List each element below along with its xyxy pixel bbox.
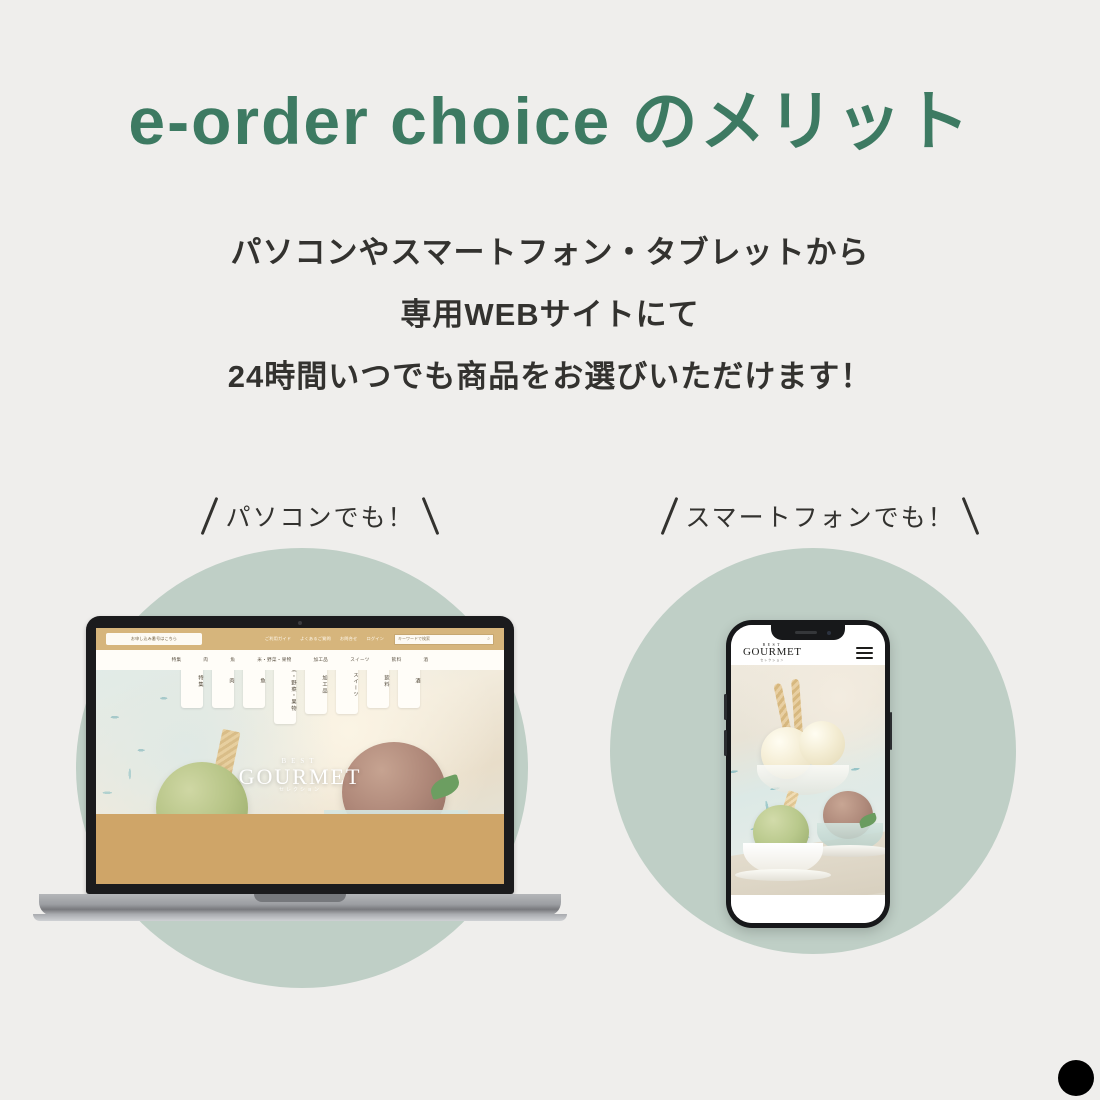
phone-caption: スマートフォンでも！ <box>560 496 1080 536</box>
lead-line-2: 専用WEBサイトにて <box>0 284 1100 346</box>
hamburger-bar <box>856 652 873 654</box>
lead-paragraph: パソコンやスマートフォン・タブレットから 専用WEBサイトにて 24時間いつでも… <box>0 222 1100 408</box>
nav-item-3[interactable]: 米・野菜・果物 <box>257 657 291 663</box>
category-tabs: 特集 肉 魚 米・野菜・果物 加工品 スイーツ 飲料 酒 <box>96 670 504 740</box>
category-tab-2[interactable]: 魚 <box>243 670 265 708</box>
nav-item-6[interactable]: 飲料 <box>392 657 402 663</box>
nav-item-4[interactable]: 加工品 <box>314 657 329 663</box>
laptop-screen: お申し込み番号はこちら ご利用ガイド よくあるご質問 お問合せ ログイン キーワ… <box>96 628 504 884</box>
hamburger-bar <box>856 657 873 659</box>
site-logo: BEST GOURMET セレクション <box>239 758 362 794</box>
top-link-guide[interactable]: ご利用ガイド <box>265 636 291 642</box>
nav-item-2[interactable]: 魚 <box>230 657 235 663</box>
lead-line-1: パソコンやスマートフォン・タブレットから <box>0 222 1100 284</box>
phone-device: BEST GOURMET セレクション <box>726 620 890 928</box>
nav-item-5[interactable]: スイーツ <box>350 657 369 663</box>
hamburger-menu-icon[interactable] <box>856 647 873 659</box>
vanilla-scoop-image <box>799 721 845 767</box>
site-search-placeholder: キーワードで検索 <box>398 636 430 642</box>
site-top-links: ご利用ガイド よくあるご質問 お問合せ ログイン <box>265 636 384 642</box>
category-tab-4[interactable]: 加工品 <box>305 670 327 714</box>
order-number-button[interactable]: お申し込み番号はこちら <box>106 633 202 645</box>
top-link-login[interactable]: ログイン <box>366 636 384 642</box>
phone-logo-main: GOURMET <box>743 647 802 659</box>
site-search-input[interactable]: キーワードで検索 ⌕ <box>394 634 494 645</box>
category-tab-1[interactable]: 肉 <box>212 670 234 708</box>
page-canvas: e-order choice のメリット パソコンやスマートフォン・タブレットか… <box>0 0 1100 1100</box>
slash-left-icon <box>201 497 219 535</box>
top-link-faq[interactable]: よくあるご質問 <box>300 636 331 642</box>
search-icon: ⌕ <box>487 636 490 642</box>
slash-left-icon <box>661 497 679 535</box>
laptop-lid: お申し込み番号はこちら ご利用ガイド よくあるご質問 お問合せ ログイン キーワ… <box>86 616 514 894</box>
page-title: e-order choice のメリット <box>0 88 1100 154</box>
lead-line-3: 24時間いつでも商品をお選びいただけます！ <box>0 346 1100 408</box>
laptop-caption: パソコンでも！ <box>60 496 580 536</box>
slash-right-icon <box>421 497 439 535</box>
site-hero-banner: BEST GOURMET セレクション 特集 肉 魚 米・野菜・果物 加工品 ス… <box>96 670 504 884</box>
phone-logo-tagline: セレクション <box>743 659 802 662</box>
phone-volume-button[interactable] <box>890 712 893 750</box>
top-link-contact[interactable]: お問合せ <box>340 636 358 642</box>
page-indicator-dot <box>1058 1060 1094 1096</box>
phone-speaker-icon <box>795 631 817 634</box>
laptop-caption-label: パソコンでも！ <box>225 498 414 534</box>
laptop-base <box>39 894 561 916</box>
phone-hero-image <box>731 665 885 895</box>
slash-right-icon <box>961 497 979 535</box>
site-nav: 特集 肉 魚 米・野菜・果物 加工品 スイーツ 飲料 酒 <box>96 650 504 670</box>
site-logo-main: GOURMET <box>239 765 362 788</box>
site-topbar: お申し込み番号はこちら ご利用ガイド よくあるご質問 お問合せ ログイン キーワ… <box>96 628 504 650</box>
category-tab-6[interactable]: 飲料 <box>367 670 389 708</box>
phone-caption-label: スマートフォンでも！ <box>685 498 954 534</box>
laptop-device: お申し込み番号はこちら ご利用ガイド よくあるご質問 お問合せ ログイン キーワ… <box>86 616 561 916</box>
phone-screen: BEST GOURMET セレクション <box>731 625 885 923</box>
phone-notch <box>771 625 845 640</box>
nav-item-0[interactable]: 特集 <box>172 657 182 663</box>
phone-content-area <box>731 895 885 923</box>
category-tab-5[interactable]: スイーツ <box>336 670 358 714</box>
phone-camera-icon <box>827 631 831 635</box>
plate-image <box>735 869 831 881</box>
site-logo-tagline: セレクション <box>239 788 362 793</box>
nav-item-1[interactable]: 肉 <box>203 657 208 663</box>
category-tab-3[interactable]: 米・野菜・果物 <box>274 670 296 724</box>
nav-item-7[interactable]: 酒 <box>423 657 428 663</box>
category-tab-7[interactable]: 酒 <box>398 670 420 708</box>
category-tab-0[interactable]: 特集 <box>181 670 203 708</box>
hamburger-bar <box>856 647 873 649</box>
category-strip <box>96 814 504 884</box>
phone-site-logo: BEST GOURMET セレクション <box>743 643 802 662</box>
laptop-camera-icon <box>298 621 302 625</box>
